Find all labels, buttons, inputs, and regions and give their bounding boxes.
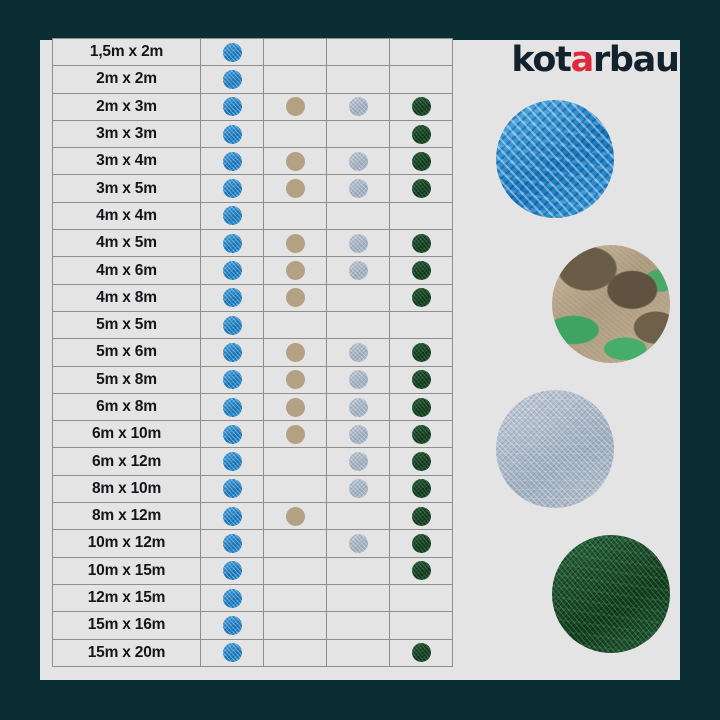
availability-cell-grey-tarpaulin [327, 584, 390, 611]
availability-dot-blue-tarpaulin [223, 234, 242, 253]
availability-dot-grey-tarpaulin [349, 534, 368, 553]
availability-dot-green-tarpaulin [412, 97, 431, 116]
table-row: 4m x 4m [53, 202, 453, 229]
availability-dot-green-tarpaulin [412, 343, 431, 362]
availability-dot-green-tarpaulin [412, 370, 431, 389]
availability-dot-blue-tarpaulin [223, 479, 242, 498]
availability-cell-grey-tarpaulin [327, 612, 390, 639]
table-row: 4m x 8m [53, 284, 453, 311]
size-label: 5m x 5m [53, 311, 201, 338]
availability-cell-green-tarpaulin [390, 393, 453, 420]
availability-dot-green-tarpaulin [412, 561, 431, 580]
availability-cell-grey-tarpaulin [327, 148, 390, 175]
availability-cell-blue-tarpaulin [201, 393, 264, 420]
availability-cell-blue-tarpaulin [201, 66, 264, 93]
availability-dot-blue-tarpaulin [223, 616, 242, 635]
availability-dot-blue-tarpaulin [223, 425, 242, 444]
availability-cell-camouflage-tarpaulin [264, 93, 327, 120]
availability-cell-camouflage-tarpaulin [264, 311, 327, 338]
availability-cell-camouflage-tarpaulin [264, 257, 327, 284]
table-row: 1,5m x 2m [53, 39, 453, 66]
availability-cell-blue-tarpaulin [201, 257, 264, 284]
availability-dot-blue-tarpaulin [223, 398, 242, 417]
availability-cell-camouflage-tarpaulin [264, 120, 327, 147]
availability-cell-green-tarpaulin [390, 475, 453, 502]
availability-cell-grey-tarpaulin [327, 366, 390, 393]
availability-cell-grey-tarpaulin [327, 66, 390, 93]
availability-cell-camouflage-tarpaulin [264, 202, 327, 229]
availability-dot-green-tarpaulin [412, 507, 431, 526]
availability-dot-grey-tarpaulin [349, 261, 368, 280]
size-label: 6m x 8m [53, 393, 201, 420]
availability-cell-camouflage-tarpaulin [264, 39, 327, 66]
availability-cell-camouflage-tarpaulin [264, 557, 327, 584]
availability-cell-green-tarpaulin [390, 202, 453, 229]
availability-dot-camouflage-tarpaulin [286, 97, 305, 116]
availability-cell-grey-tarpaulin [327, 120, 390, 147]
availability-cell-blue-tarpaulin [201, 120, 264, 147]
availability-dot-green-tarpaulin [412, 479, 431, 498]
availability-dot-blue-tarpaulin [223, 125, 242, 144]
table-row: 6m x 10m [53, 421, 453, 448]
availability-cell-blue-tarpaulin [201, 366, 264, 393]
availability-cell-blue-tarpaulin [201, 530, 264, 557]
availability-cell-blue-tarpaulin [201, 93, 264, 120]
availability-dot-green-tarpaulin [412, 152, 431, 171]
table-row: 10m x 12m [53, 530, 453, 557]
availability-dot-camouflage-tarpaulin [286, 398, 305, 417]
availability-cell-camouflage-tarpaulin [264, 639, 327, 666]
availability-cell-camouflage-tarpaulin [264, 503, 327, 530]
availability-cell-green-tarpaulin [390, 584, 453, 611]
availability-cell-green-tarpaulin [390, 639, 453, 666]
availability-cell-blue-tarpaulin [201, 639, 264, 666]
availability-dot-blue-tarpaulin [223, 288, 242, 307]
table-row: 2m x 3m [53, 93, 453, 120]
availability-cell-green-tarpaulin [390, 503, 453, 530]
availability-dot-blue-tarpaulin [223, 507, 242, 526]
availability-cell-camouflage-tarpaulin [264, 393, 327, 420]
availability-cell-blue-tarpaulin [201, 475, 264, 502]
availability-dot-grey-tarpaulin [349, 97, 368, 116]
availability-cell-grey-tarpaulin [327, 175, 390, 202]
availability-cell-grey-tarpaulin [327, 202, 390, 229]
availability-dot-blue-tarpaulin [223, 261, 242, 280]
availability-cell-camouflage-tarpaulin [264, 339, 327, 366]
size-label: 10m x 12m [53, 530, 201, 557]
availability-dot-camouflage-tarpaulin [286, 288, 305, 307]
availability-cell-camouflage-tarpaulin [264, 530, 327, 557]
table-row: 15m x 16m [53, 612, 453, 639]
availability-cell-grey-tarpaulin [327, 93, 390, 120]
table-row: 5m x 6m [53, 339, 453, 366]
availability-dot-camouflage-tarpaulin [286, 261, 305, 280]
availability-dot-green-tarpaulin [412, 398, 431, 417]
table-row: 5m x 5m [53, 311, 453, 338]
availability-cell-blue-tarpaulin [201, 584, 264, 611]
availability-cell-green-tarpaulin [390, 175, 453, 202]
availability-cell-blue-tarpaulin [201, 339, 264, 366]
availability-dot-blue-tarpaulin [223, 370, 242, 389]
availability-dot-blue-tarpaulin [223, 316, 242, 335]
availability-dot-blue-tarpaulin [223, 152, 242, 171]
availability-dot-blue-tarpaulin [223, 206, 242, 225]
availability-cell-camouflage-tarpaulin [264, 230, 327, 257]
logo-suffix: rbau [593, 40, 679, 80]
availability-cell-blue-tarpaulin [201, 175, 264, 202]
size-label: 4m x 8m [53, 284, 201, 311]
availability-dot-green-tarpaulin [412, 643, 431, 662]
table-row: 6m x 8m [53, 393, 453, 420]
availability-cell-green-tarpaulin [390, 557, 453, 584]
size-label: 6m x 12m [53, 448, 201, 475]
availability-dot-camouflage-tarpaulin [286, 507, 305, 526]
availability-cell-green-tarpaulin [390, 230, 453, 257]
availability-cell-camouflage-tarpaulin [264, 366, 327, 393]
availability-cell-camouflage-tarpaulin [264, 612, 327, 639]
availability-cell-camouflage-tarpaulin [264, 421, 327, 448]
availability-cell-green-tarpaulin [390, 366, 453, 393]
table-row: 3m x 4m [53, 148, 453, 175]
availability-dot-grey-tarpaulin [349, 398, 368, 417]
brand-logo: kotarbau [495, 40, 695, 80]
availability-dot-green-tarpaulin [412, 234, 431, 253]
availability-cell-blue-tarpaulin [201, 448, 264, 475]
availability-dot-green-tarpaulin [412, 288, 431, 307]
availability-dot-camouflage-tarpaulin [286, 234, 305, 253]
table-row: 3m x 5m [53, 175, 453, 202]
size-label: 15m x 20m [53, 639, 201, 666]
availability-cell-green-tarpaulin [390, 284, 453, 311]
availability-dot-grey-tarpaulin [349, 425, 368, 444]
availability-cell-blue-tarpaulin [201, 421, 264, 448]
availability-cell-blue-tarpaulin [201, 311, 264, 338]
table-row: 3m x 3m [53, 120, 453, 147]
availability-dot-camouflage-tarpaulin [286, 343, 305, 362]
availability-cell-blue-tarpaulin [201, 612, 264, 639]
availability-cell-camouflage-tarpaulin [264, 584, 327, 611]
availability-cell-green-tarpaulin [390, 39, 453, 66]
availability-cell-green-tarpaulin [390, 339, 453, 366]
size-label: 5m x 6m [53, 339, 201, 366]
availability-dot-grey-tarpaulin [349, 234, 368, 253]
availability-cell-blue-tarpaulin [201, 39, 264, 66]
availability-cell-grey-tarpaulin [327, 393, 390, 420]
availability-dot-blue-tarpaulin [223, 561, 242, 580]
availability-cell-grey-tarpaulin [327, 257, 390, 284]
availability-cell-camouflage-tarpaulin [264, 175, 327, 202]
availability-cell-grey-tarpaulin [327, 557, 390, 584]
availability-cell-camouflage-tarpaulin [264, 66, 327, 93]
table-row: 8m x 12m [53, 503, 453, 530]
availability-cell-green-tarpaulin [390, 120, 453, 147]
availability-cell-blue-tarpaulin [201, 202, 264, 229]
availability-cell-grey-tarpaulin [327, 448, 390, 475]
availability-cell-grey-tarpaulin [327, 421, 390, 448]
availability-dot-green-tarpaulin [412, 261, 431, 280]
size-label: 15m x 16m [53, 612, 201, 639]
availability-cell-grey-tarpaulin [327, 230, 390, 257]
table-row: 4m x 6m [53, 257, 453, 284]
availability-dot-green-tarpaulin [412, 125, 431, 144]
availability-cell-green-tarpaulin [390, 612, 453, 639]
size-availability-table: 1,5m x 2m2m x 2m2m x 3m3m x 3m3m x 4m3m … [52, 38, 452, 667]
availability-cell-grey-tarpaulin [327, 284, 390, 311]
availability-dot-grey-tarpaulin [349, 152, 368, 171]
product-size-chart: 1,5m x 2m2m x 2m2m x 3m3m x 3m3m x 4m3m … [0, 0, 720, 720]
logo-prefix: kot [511, 40, 570, 80]
availability-cell-blue-tarpaulin [201, 284, 264, 311]
availability-cell-grey-tarpaulin [327, 530, 390, 557]
availability-cell-grey-tarpaulin [327, 639, 390, 666]
size-label: 2m x 2m [53, 66, 201, 93]
availability-cell-grey-tarpaulin [327, 311, 390, 338]
swatch-grey-tarpaulin [496, 390, 614, 508]
availability-cell-green-tarpaulin [390, 448, 453, 475]
availability-dot-blue-tarpaulin [223, 589, 242, 608]
availability-dot-blue-tarpaulin [223, 534, 242, 553]
availability-cell-blue-tarpaulin [201, 557, 264, 584]
table-row: 5m x 8m [53, 366, 453, 393]
availability-dot-blue-tarpaulin [223, 97, 242, 116]
table-row: 10m x 15m [53, 557, 453, 584]
availability-cell-grey-tarpaulin [327, 39, 390, 66]
availability-dot-camouflage-tarpaulin [286, 370, 305, 389]
size-label: 3m x 4m [53, 148, 201, 175]
availability-cell-green-tarpaulin [390, 311, 453, 338]
availability-cell-grey-tarpaulin [327, 475, 390, 502]
availability-dot-green-tarpaulin [412, 179, 431, 198]
availability-cell-camouflage-tarpaulin [264, 475, 327, 502]
availability-cell-blue-tarpaulin [201, 148, 264, 175]
availability-cell-green-tarpaulin [390, 530, 453, 557]
swatch-blue-tarpaulin [496, 100, 614, 218]
size-label: 3m x 5m [53, 175, 201, 202]
availability-dot-camouflage-tarpaulin [286, 152, 305, 171]
size-label: 1,5m x 2m [53, 39, 201, 66]
size-label: 2m x 3m [53, 93, 201, 120]
table-row: 15m x 20m [53, 639, 453, 666]
availability-dot-grey-tarpaulin [349, 452, 368, 471]
size-label: 10m x 15m [53, 557, 201, 584]
size-label: 4m x 4m [53, 202, 201, 229]
availability-cell-grey-tarpaulin [327, 503, 390, 530]
table-row: 2m x 2m [53, 66, 453, 93]
availability-dot-camouflage-tarpaulin [286, 179, 305, 198]
size-label: 4m x 5m [53, 230, 201, 257]
table-row: 4m x 5m [53, 230, 453, 257]
availability-cell-camouflage-tarpaulin [264, 448, 327, 475]
size-label: 12m x 15m [53, 584, 201, 611]
availability-dot-blue-tarpaulin [223, 452, 242, 471]
availability-dot-blue-tarpaulin [223, 70, 242, 89]
availability-cell-grey-tarpaulin [327, 339, 390, 366]
table-row: 6m x 12m [53, 448, 453, 475]
availability-dot-green-tarpaulin [412, 534, 431, 553]
size-label: 8m x 10m [53, 475, 201, 502]
availability-cell-green-tarpaulin [390, 257, 453, 284]
availability-dot-blue-tarpaulin [223, 179, 242, 198]
size-label: 6m x 10m [53, 421, 201, 448]
size-label: 4m x 6m [53, 257, 201, 284]
availability-dot-green-tarpaulin [412, 452, 431, 471]
availability-dot-blue-tarpaulin [223, 643, 242, 662]
availability-dot-grey-tarpaulin [349, 343, 368, 362]
table-row: 12m x 15m [53, 584, 453, 611]
size-label: 8m x 12m [53, 503, 201, 530]
availability-cell-green-tarpaulin [390, 148, 453, 175]
availability-dot-grey-tarpaulin [349, 179, 368, 198]
availability-cell-camouflage-tarpaulin [264, 148, 327, 175]
swatch-camouflage-tarpaulin [552, 245, 670, 363]
availability-cell-blue-tarpaulin [201, 230, 264, 257]
availability-cell-green-tarpaulin [390, 421, 453, 448]
availability-dot-green-tarpaulin [412, 425, 431, 444]
table-row: 8m x 10m [53, 475, 453, 502]
availability-cell-green-tarpaulin [390, 93, 453, 120]
availability-dot-blue-tarpaulin [223, 343, 242, 362]
availability-cell-camouflage-tarpaulin [264, 284, 327, 311]
availability-cell-green-tarpaulin [390, 66, 453, 93]
availability-cell-blue-tarpaulin [201, 503, 264, 530]
availability-dot-blue-tarpaulin [223, 43, 242, 62]
availability-dot-camouflage-tarpaulin [286, 425, 305, 444]
size-label: 5m x 8m [53, 366, 201, 393]
availability-dot-grey-tarpaulin [349, 479, 368, 498]
size-label: 3m x 3m [53, 120, 201, 147]
logo-accent-letter: a [571, 40, 593, 80]
availability-dot-grey-tarpaulin [349, 370, 368, 389]
swatch-green-tarpaulin [552, 535, 670, 653]
